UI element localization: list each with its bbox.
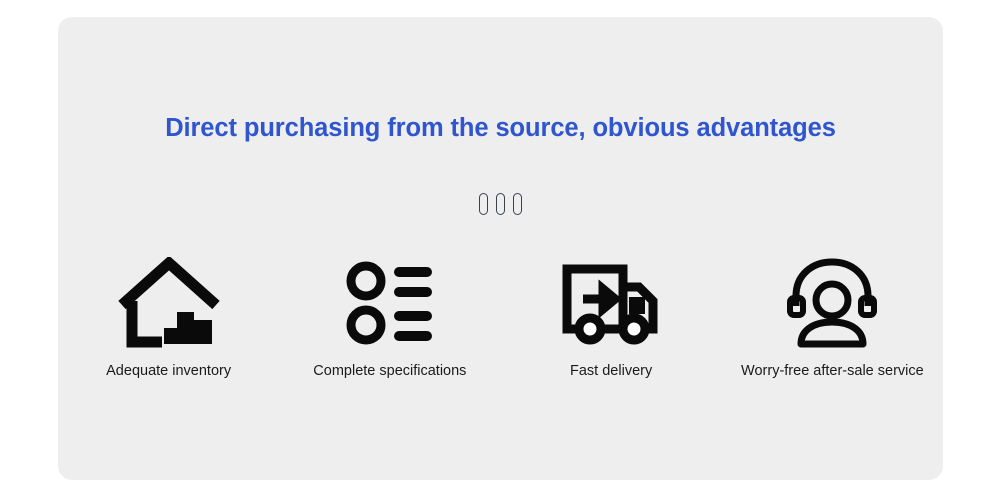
divider-dot-2 [496, 193, 505, 215]
feature-label: Worry-free after-sale service [741, 363, 924, 379]
divider-dot-1 [479, 193, 488, 215]
promo-card: Direct purchasing from the source, obvio… [58, 17, 943, 480]
feature-item-inventory: Adequate inventory [64, 257, 274, 379]
feature-label: Complete specifications [313, 363, 466, 379]
promo-banner-page: Direct purchasing from the source, obvio… [0, 0, 1000, 499]
divider-dot-3 [513, 193, 522, 215]
feature-list: Adequate inventory Complete specificatio… [58, 257, 943, 379]
customer-support-headset-icon [784, 257, 880, 349]
specification-list-icon [344, 257, 436, 349]
page-title: Direct purchasing from the source, obvio… [58, 114, 943, 143]
delivery-truck-icon [561, 257, 661, 349]
feature-item-after-sale-service: Worry-free after-sale service [727, 257, 937, 379]
warehouse-house-icon [118, 257, 220, 349]
feature-item-delivery: Fast delivery [506, 257, 716, 379]
feature-item-specifications: Complete specifications [285, 257, 495, 379]
divider-dots [58, 193, 943, 215]
feature-label: Adequate inventory [106, 363, 231, 379]
feature-label: Fast delivery [570, 363, 652, 379]
